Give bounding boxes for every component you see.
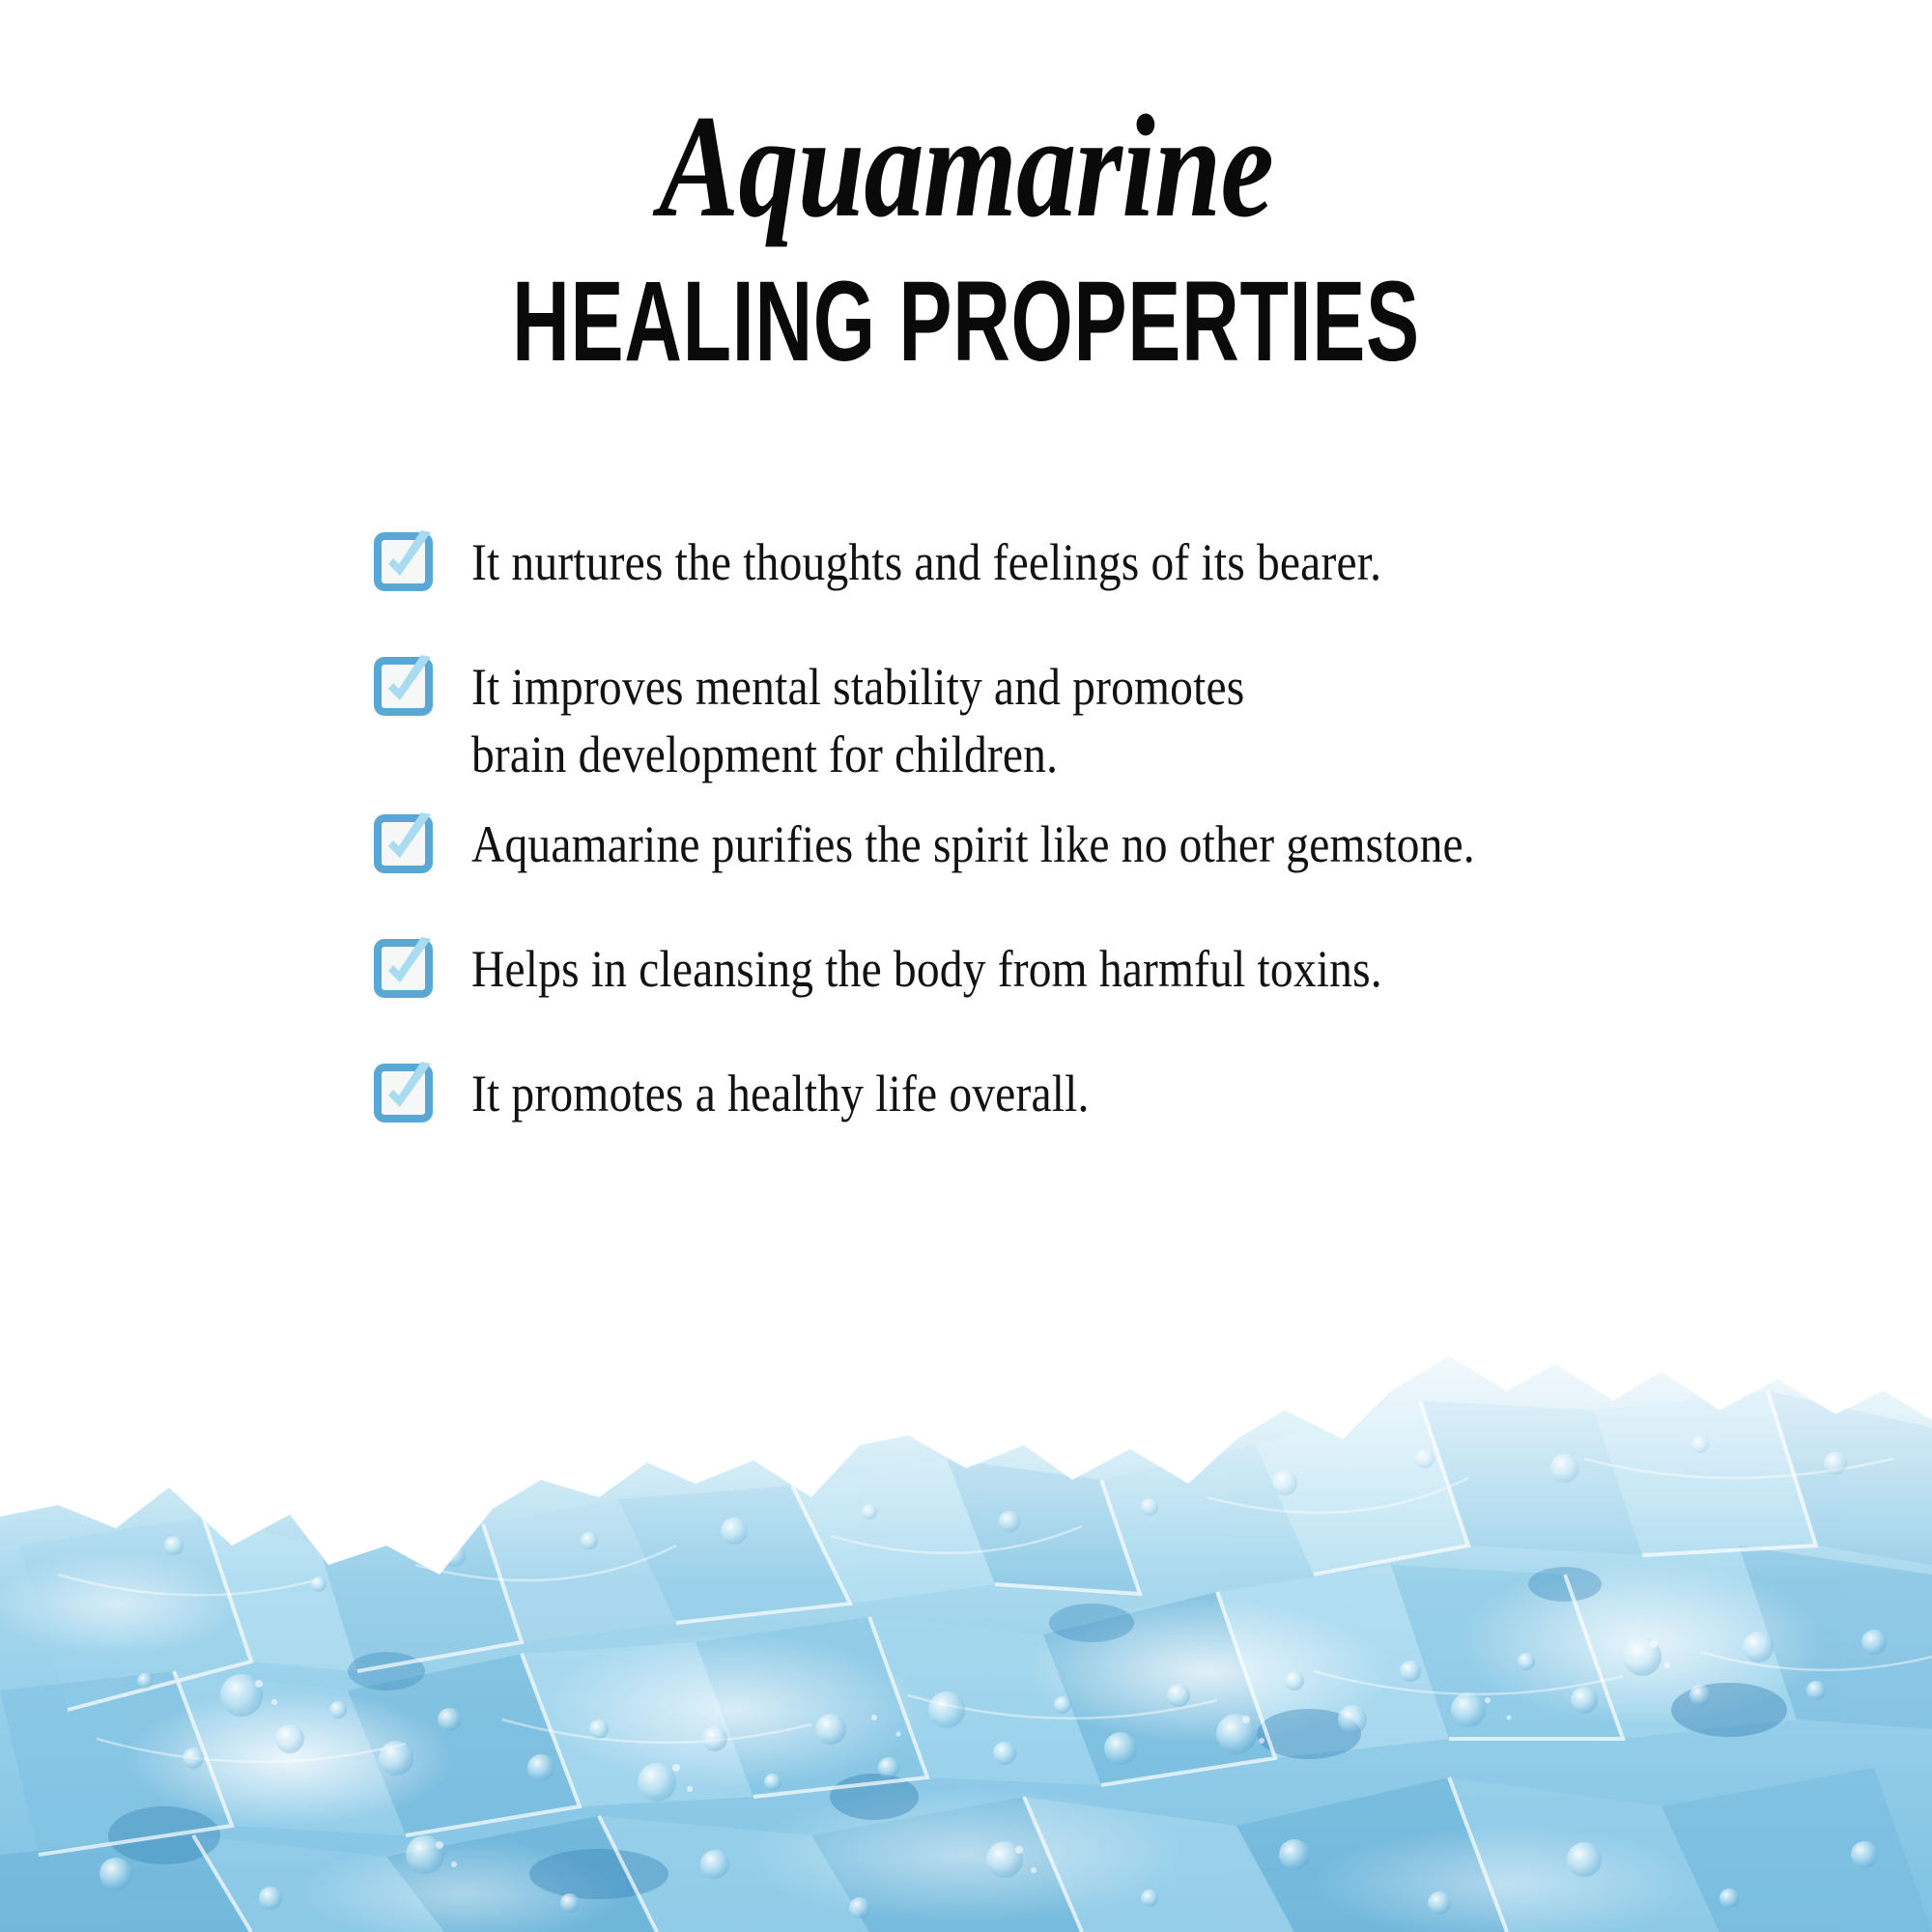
header: Aquamarine HEALING PROPERTIES — [0, 0, 1932, 379]
list-item: Aquamarine purifies the spirit like no o… — [375, 809, 1824, 878]
list-item: It promotes a healthy life overall. — [375, 1058, 1824, 1127]
poster-canvas: Aquamarine HEALING PROPERTIES It nurture… — [0, 0, 1932, 1932]
checkbox-checked-icon — [375, 1062, 435, 1122]
checkbox-checked-icon — [375, 655, 435, 715]
checkbox-checked-icon — [375, 937, 435, 997]
list-item-label: Aquamarine purifies the spirit like no o… — [471, 809, 1475, 878]
list-item-label: It promotes a healthy life overall. — [471, 1058, 1090, 1127]
list-item-label: It improves mental stability and promote… — [471, 651, 1244, 788]
ice-cubes-photo — [0, 1256, 1932, 1932]
list-item: It nurtures the thoughts and feelings of… — [375, 526, 1824, 596]
list-item-label: Helps in cleansing the body from harmful… — [471, 933, 1382, 1003]
list-item: Helps in cleansing the body from harmful… — [375, 933, 1824, 1003]
page-title: Aquamarine — [174, 93, 1758, 240]
list-item: It improves mental stability and promote… — [375, 651, 1824, 788]
healing-properties-list: It nurtures the thoughts and feelings of… — [375, 526, 1824, 1127]
list-item-label: It nurtures the thoughts and feelings of… — [471, 526, 1381, 596]
checkbox-checked-icon — [375, 812, 435, 872]
page-subtitle: HEALING PROPERTIES — [290, 265, 1642, 379]
checkbox-checked-icon — [375, 530, 435, 590]
